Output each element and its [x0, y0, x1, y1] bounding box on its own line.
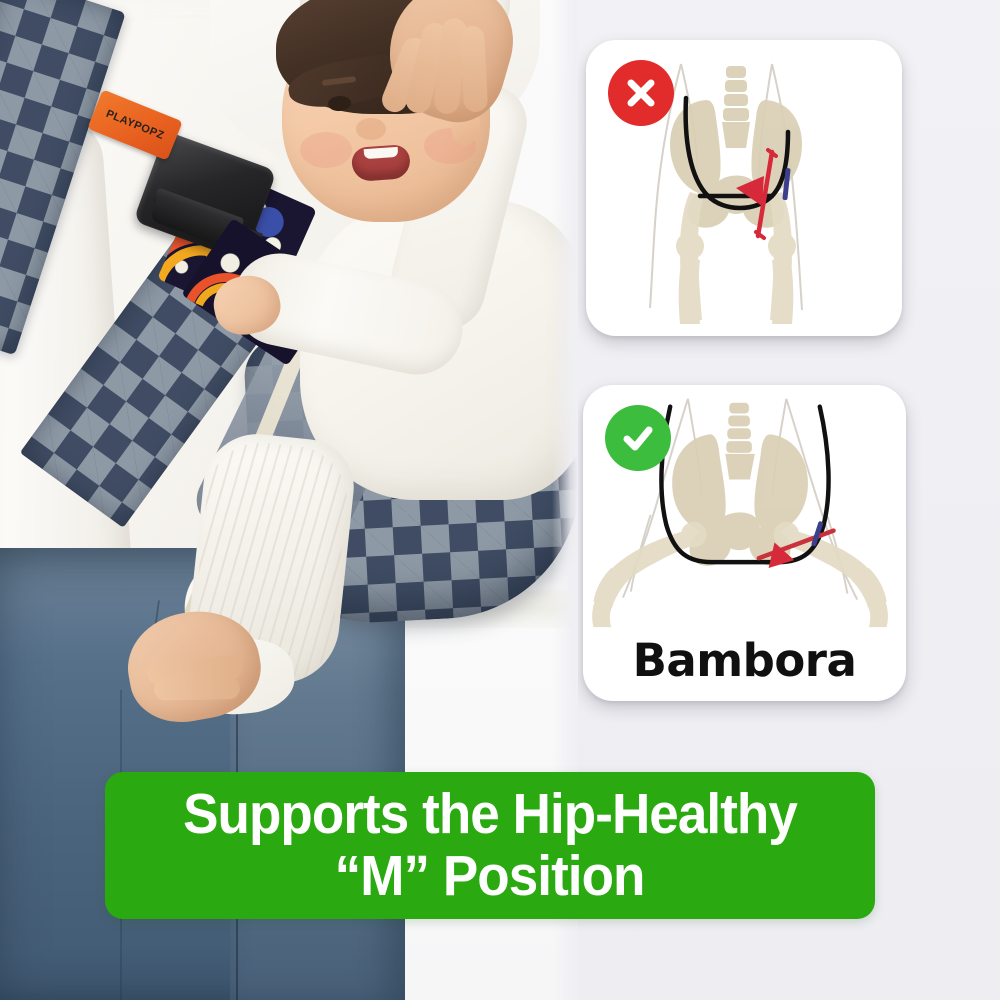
card-correct-position: Bambora — [583, 385, 906, 701]
sling-shoulder-strap — [0, 0, 126, 355]
hip-healthy-banner: Supports the Hip-Healthy “M” Position — [105, 772, 875, 919]
product-marketing-image: PLAYPOPZ — [0, 0, 1000, 1000]
playpopz-brand-tag: PLAYPOPZ — [87, 89, 182, 160]
check-mark-icon — [605, 405, 671, 471]
banner-line-2: “M” Position — [335, 847, 645, 906]
playpopz-tag-label: PLAYPOPZ — [104, 108, 166, 142]
card-incorrect-position — [586, 40, 902, 336]
baby-nose — [356, 118, 386, 140]
banner-line-1: Supports the Hip-Healthy — [183, 785, 797, 844]
baby-cheek — [300, 132, 352, 168]
mother-finger — [460, 25, 488, 112]
x-mark-icon — [608, 60, 674, 126]
card-label-bambora: Bambora — [583, 634, 906, 687]
mother-finger — [154, 677, 240, 700]
